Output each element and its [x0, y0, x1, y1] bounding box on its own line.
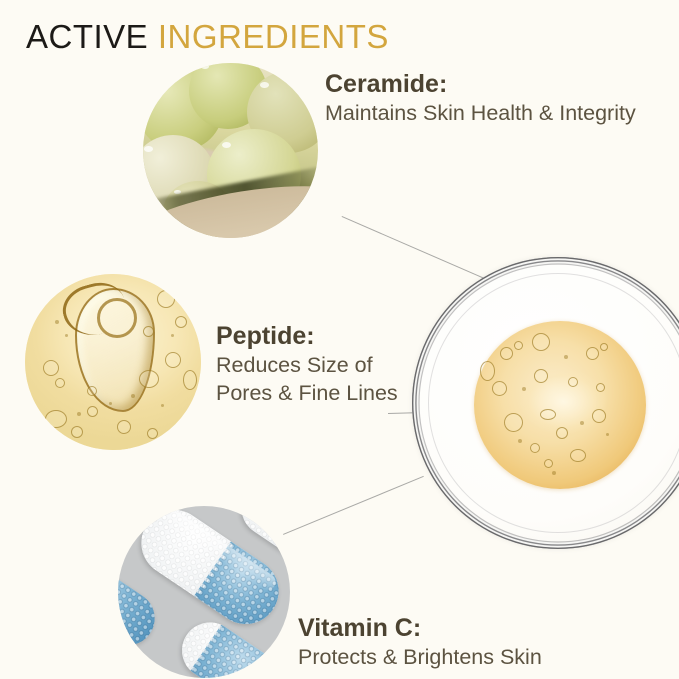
- vitamin-c-benefit: Protects & Brightens Skin: [298, 644, 542, 672]
- ceramide-name: Ceramide:: [325, 68, 636, 100]
- droplet-bubble: [530, 443, 540, 453]
- droplet-speck: [564, 355, 568, 359]
- droplet-bubble: [544, 459, 553, 468]
- ceramide-benefit: Maintains Skin Health & Integrity: [325, 100, 636, 128]
- serum-droplet: [474, 321, 646, 489]
- petri-dish: [412, 257, 679, 549]
- droplet-bubble: [532, 333, 550, 351]
- droplet-speck: [518, 439, 522, 443]
- label-vitamin-c: Vitamin C: Protects & Brightens Skin: [298, 612, 542, 672]
- droplet-bubble: [534, 369, 548, 383]
- serum-bubble: [143, 326, 154, 337]
- droplet-bubble: [600, 343, 608, 351]
- serum-bubble: [183, 370, 197, 390]
- ingredient-image-peptide: [25, 274, 201, 450]
- droplet-bubble: [514, 341, 523, 350]
- peptide-gel-loop: [97, 298, 137, 338]
- droplet-speck: [580, 421, 584, 425]
- peptide-benefit-line-2: Pores & Fine Lines: [216, 380, 398, 408]
- ingredient-image-vitamin-c: [118, 506, 290, 678]
- serum-bubble: [165, 352, 181, 368]
- droplet-bubble: [586, 347, 599, 360]
- droplet-bubble: [556, 427, 568, 439]
- peptide-name: Peptide:: [216, 320, 398, 352]
- droplet-bubble: [596, 383, 605, 392]
- droplet-bubble: [568, 377, 578, 387]
- serum-bubble: [55, 378, 65, 388]
- droplet-speck: [606, 433, 609, 436]
- serum-bubble: [157, 290, 175, 308]
- serum-speck: [77, 412, 81, 416]
- serum-bubble: [45, 410, 67, 428]
- serum-speck: [131, 394, 135, 398]
- ingredient-image-ceramide: [143, 63, 318, 238]
- droplet-bubble: [570, 449, 586, 462]
- droplet-bubble: [540, 409, 556, 420]
- serum-speck: [65, 334, 68, 337]
- serum-speck: [55, 320, 59, 324]
- droplet-speck: [522, 387, 526, 391]
- peptide-benefit-line-1: Reduces Size of: [216, 352, 398, 380]
- page-title: ACTIVE INGREDIENTS: [26, 20, 389, 53]
- title-word-ingredients: INGREDIENTS: [158, 18, 389, 55]
- serum-speck: [109, 402, 112, 405]
- label-peptide: Peptide: Reduces Size of Pores & Fine Li…: [216, 320, 398, 407]
- connector-line-vitaminc: [283, 476, 424, 535]
- droplet-speck: [552, 471, 556, 475]
- serum-bubble: [175, 316, 187, 328]
- infographic-canvas: ACTIVE INGREDIENTS: [0, 0, 679, 679]
- droplet-bubble: [480, 361, 495, 381]
- serum-bubble: [43, 360, 59, 376]
- serum-bubble: [87, 406, 98, 417]
- title-word-active: ACTIVE: [26, 18, 148, 55]
- label-ceramide: Ceramide: Maintains Skin Health & Integr…: [325, 68, 636, 128]
- serum-bubble: [117, 420, 131, 434]
- vitamin-c-name: Vitamin C:: [298, 612, 542, 644]
- serum-speck: [171, 334, 174, 337]
- serum-bubble: [87, 386, 97, 396]
- connector-line-ceramide: [342, 216, 492, 282]
- serum-bubble: [139, 370, 159, 388]
- droplet-bubble: [592, 409, 606, 423]
- droplet-bubble: [500, 347, 513, 360]
- droplet-bubble: [504, 413, 523, 432]
- serum-bubble: [147, 428, 158, 439]
- serum-bubble: [71, 426, 83, 438]
- serum-speck: [161, 404, 164, 407]
- droplet-bubble: [492, 381, 507, 396]
